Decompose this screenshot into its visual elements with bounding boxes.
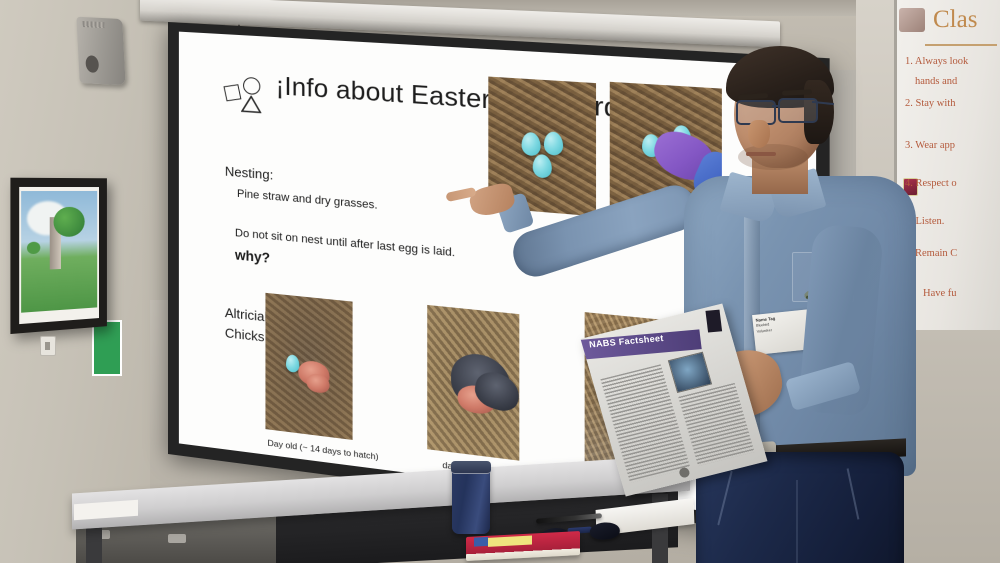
slide-photo-day-old-chick bbox=[265, 293, 352, 440]
framed-landscape-painting bbox=[10, 178, 107, 334]
chicks-heading-line2: Chicks: bbox=[225, 325, 268, 345]
triangle-icon bbox=[241, 95, 261, 114]
slide-photo-chick-day-six bbox=[427, 305, 519, 461]
slide-decoration bbox=[225, 75, 272, 119]
travel-tumbler[interactable] bbox=[452, 462, 490, 534]
nesting-heading: Nesting: bbox=[225, 163, 273, 182]
chin-shadow bbox=[738, 144, 808, 170]
handout-body-text bbox=[678, 383, 754, 466]
eyeglasses bbox=[734, 98, 830, 122]
picture-artwork bbox=[21, 191, 97, 313]
wall-speaker bbox=[76, 17, 125, 86]
classroom-scene: Clas 1. Always look hands and 2. Stay wi… bbox=[0, 0, 1000, 563]
sticky-note bbox=[488, 536, 532, 547]
cabinet-handle[interactable] bbox=[168, 534, 186, 543]
nesting-question: why? bbox=[235, 247, 270, 266]
chicks-heading-line1: Altricial bbox=[225, 305, 268, 325]
painting-tree-canopy bbox=[53, 207, 84, 237]
tumbler-lid bbox=[451, 461, 491, 474]
nose bbox=[748, 120, 770, 148]
book-bookmark bbox=[474, 537, 488, 547]
green-poster bbox=[92, 320, 122, 376]
handout-photo bbox=[668, 352, 712, 393]
photo-caption-day-old: Day old (~ 14 days to hatch) bbox=[267, 438, 378, 462]
jeans-seam bbox=[796, 480, 798, 563]
nesting-materials: Pine straw and dry grasses. bbox=[237, 188, 378, 212]
circle-icon bbox=[243, 77, 260, 95]
painting-bush bbox=[27, 242, 40, 255]
mouth bbox=[746, 152, 776, 156]
whiteboard-magnet bbox=[899, 8, 925, 32]
whiteboard-title: Clas bbox=[933, 6, 977, 34]
power-outlet bbox=[40, 336, 56, 356]
square-icon bbox=[223, 84, 241, 101]
